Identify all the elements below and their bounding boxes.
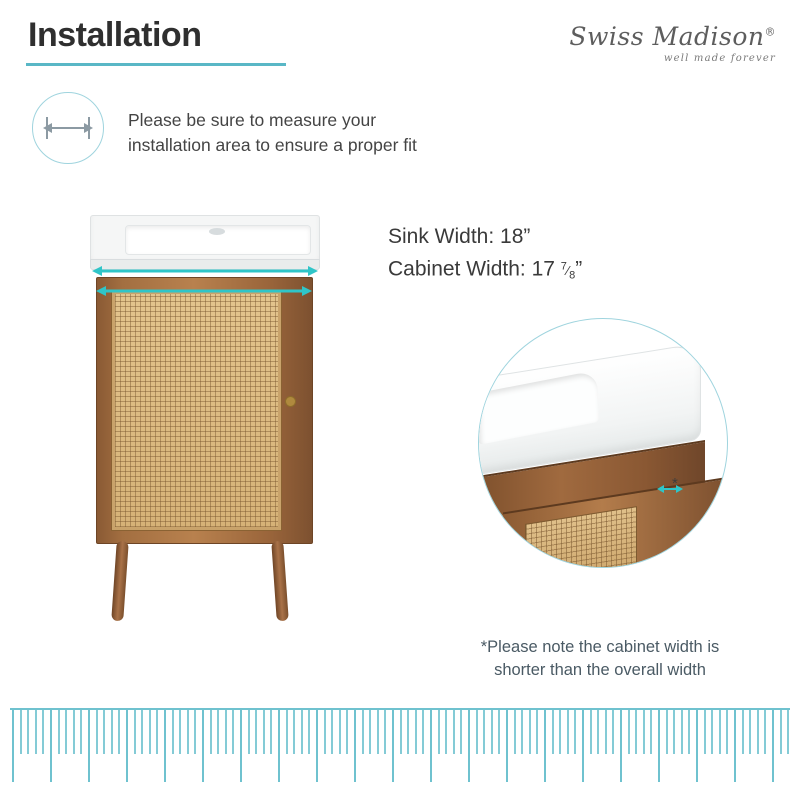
ruler-tick	[88, 710, 90, 782]
ruler-tick	[552, 710, 554, 754]
ruler-tick	[681, 710, 683, 754]
ruler-tick	[324, 710, 326, 754]
sink-width-label: Sink Width: 18”	[388, 222, 582, 252]
ruler-tick	[590, 710, 592, 754]
ruler-tick	[757, 710, 759, 754]
measure-arrows-svg	[43, 115, 93, 141]
ruler-tick	[118, 710, 120, 754]
ruler-tick	[179, 710, 181, 754]
dimension-labels: Sink Width: 18” Cabinet Width: 17 7⁄8”	[388, 222, 582, 291]
ruler-tick	[346, 710, 348, 754]
cabinet-leg-right	[271, 541, 289, 622]
ruler-tick	[407, 710, 409, 754]
ruler-tick	[286, 710, 288, 754]
ruler-tick	[635, 710, 637, 754]
ruler-tick	[521, 710, 523, 754]
ruler-tick	[650, 710, 652, 754]
ruler-tick	[666, 710, 668, 754]
detail-asterisk: *	[672, 475, 678, 492]
faucet-hole	[209, 228, 225, 235]
ruler-tick	[384, 710, 386, 754]
ruler-tick	[103, 710, 105, 754]
ruler-tick	[415, 710, 417, 754]
detail-cabinet-knob	[669, 557, 684, 568]
ruler-tick	[172, 710, 174, 754]
ruler-tick	[643, 710, 645, 754]
sink-width-arrow-icon	[92, 265, 318, 277]
ruler-tick	[742, 710, 744, 754]
detail-callout-circle: *	[478, 318, 728, 568]
ruler-tick	[582, 710, 584, 782]
measure-arrows-icon	[32, 92, 104, 164]
ruler-tick	[126, 710, 128, 782]
ruler-tick	[704, 710, 706, 754]
ruler-tick	[468, 710, 470, 782]
ruler-tick	[331, 710, 333, 754]
ruler-tick	[400, 710, 402, 754]
fraction-numerator: 7	[561, 261, 567, 273]
ruler-tick	[711, 710, 713, 754]
detail-footnote: *Please note the cabinet width is shorte…	[440, 636, 760, 682]
ruler-tick	[308, 710, 310, 754]
ruler-tick	[620, 710, 622, 782]
ruler-tick	[339, 710, 341, 754]
ruler-tick	[544, 710, 546, 782]
cabinet-width-prefix: Cabinet Width: 17	[388, 257, 561, 280]
measure-note: Please be sure to measure your installat…	[128, 108, 417, 158]
ruler-tick	[164, 710, 166, 782]
rattan-panel	[115, 294, 278, 527]
ruler-tick	[438, 710, 440, 754]
ruler-tick	[96, 710, 98, 754]
ruler-tick	[141, 710, 143, 754]
ruler-tick	[696, 710, 698, 782]
ruler-tick	[506, 710, 508, 782]
ruler-tick	[111, 710, 113, 754]
ruler-tick	[278, 710, 280, 782]
ruler-tick	[483, 710, 485, 754]
cabinet-leg-left	[111, 541, 129, 622]
ruler-tick	[536, 710, 538, 754]
brand-name-text: Swiss Madison	[569, 22, 764, 51]
cabinet-body	[96, 277, 313, 544]
brand-name: Swiss Madison®	[569, 22, 776, 51]
ruler-decoration	[0, 700, 800, 800]
ruler-tick	[574, 710, 576, 754]
ruler-tick	[27, 710, 29, 754]
ruler-tick	[369, 710, 371, 754]
ruler-tick	[688, 710, 690, 754]
ruler-tick	[50, 710, 52, 782]
ruler-tick	[658, 710, 660, 782]
ruler-tick	[764, 710, 766, 754]
ruler-tick	[567, 710, 569, 754]
ruler-tick	[12, 710, 14, 782]
ruler-tick	[232, 710, 234, 754]
ruler-tick	[453, 710, 455, 754]
ruler-tick	[377, 710, 379, 754]
ruler-tick	[780, 710, 782, 754]
cabinet-door	[111, 290, 282, 531]
ruler-tick	[225, 710, 227, 754]
ruler-tick	[263, 710, 265, 754]
ruler-tick	[301, 710, 303, 754]
ruler-tick	[20, 710, 22, 754]
ruler-tick	[514, 710, 516, 754]
registered-mark-icon: ®	[765, 26, 777, 39]
measure-note-line2: installation area to ensure a proper fit	[128, 133, 417, 158]
ruler-tick	[187, 710, 189, 754]
ruler-tick	[605, 710, 607, 754]
ruler-tick	[58, 710, 60, 754]
ruler-tick	[445, 710, 447, 754]
detail-sink-basin	[478, 370, 599, 445]
detail-footnote-line1: *Please note the cabinet width is	[440, 636, 760, 659]
ruler-tick	[772, 710, 774, 782]
ruler-tick	[202, 710, 204, 782]
ruler-tick	[628, 710, 630, 754]
ruler-tick	[726, 710, 728, 754]
ruler-tick	[612, 710, 614, 754]
ruler-tick	[529, 710, 531, 754]
ruler-tick	[498, 710, 500, 754]
ruler-tick	[35, 710, 37, 754]
cabinet-knob	[285, 396, 296, 407]
ruler-tick	[430, 710, 432, 782]
ruler-tick	[255, 710, 257, 754]
ruler-tick	[597, 710, 599, 754]
ruler-tick	[392, 710, 394, 782]
cabinet-width-fraction: 7⁄8	[561, 263, 575, 278]
ruler-tick	[210, 710, 212, 754]
ruler-tick	[422, 710, 424, 754]
ruler-tick	[248, 710, 250, 754]
cabinet-width-suffix: ”	[575, 257, 582, 280]
ruler-tick	[316, 710, 318, 782]
ruler-tick	[787, 710, 789, 754]
ruler-tick	[194, 710, 196, 754]
ruler-tick	[354, 710, 356, 782]
ruler-tick	[734, 710, 736, 782]
sink-top	[90, 215, 320, 265]
ruler-tick	[240, 710, 242, 782]
ruler-tick	[673, 710, 675, 754]
ruler-tick	[719, 710, 721, 754]
ruler-tick	[42, 710, 44, 754]
page-title: Installation	[28, 16, 201, 55]
ruler-tick	[156, 710, 158, 754]
ruler-tick	[134, 710, 136, 754]
ruler-tick	[149, 710, 151, 754]
ruler-tick	[559, 710, 561, 754]
brand-logo: Swiss Madison® well made forever	[569, 22, 776, 64]
title-underline	[26, 63, 286, 66]
ruler-tick	[362, 710, 364, 754]
cabinet-width-arrow-icon	[96, 285, 312, 297]
ruler-tick	[65, 710, 67, 754]
ruler-tick	[73, 710, 75, 754]
ruler-tick	[476, 710, 478, 754]
measure-note-line1: Please be sure to measure your	[128, 108, 417, 133]
brand-tagline: well made forever	[569, 53, 776, 64]
ruler-tick	[491, 710, 493, 754]
ruler-tick	[460, 710, 462, 754]
installation-page: Installation Swiss Madison® well made fo…	[0, 0, 800, 800]
ruler-tick	[270, 710, 272, 754]
ruler-tick	[217, 710, 219, 754]
cabinet-width-label: Cabinet Width: 17 7⁄8”	[388, 252, 582, 291]
vanity-illustration	[78, 215, 338, 645]
ruler-tick	[80, 710, 82, 754]
detail-footnote-line2: shorter than the overall width	[440, 659, 760, 682]
ruler-tick	[749, 710, 751, 754]
ruler-tick	[293, 710, 295, 754]
